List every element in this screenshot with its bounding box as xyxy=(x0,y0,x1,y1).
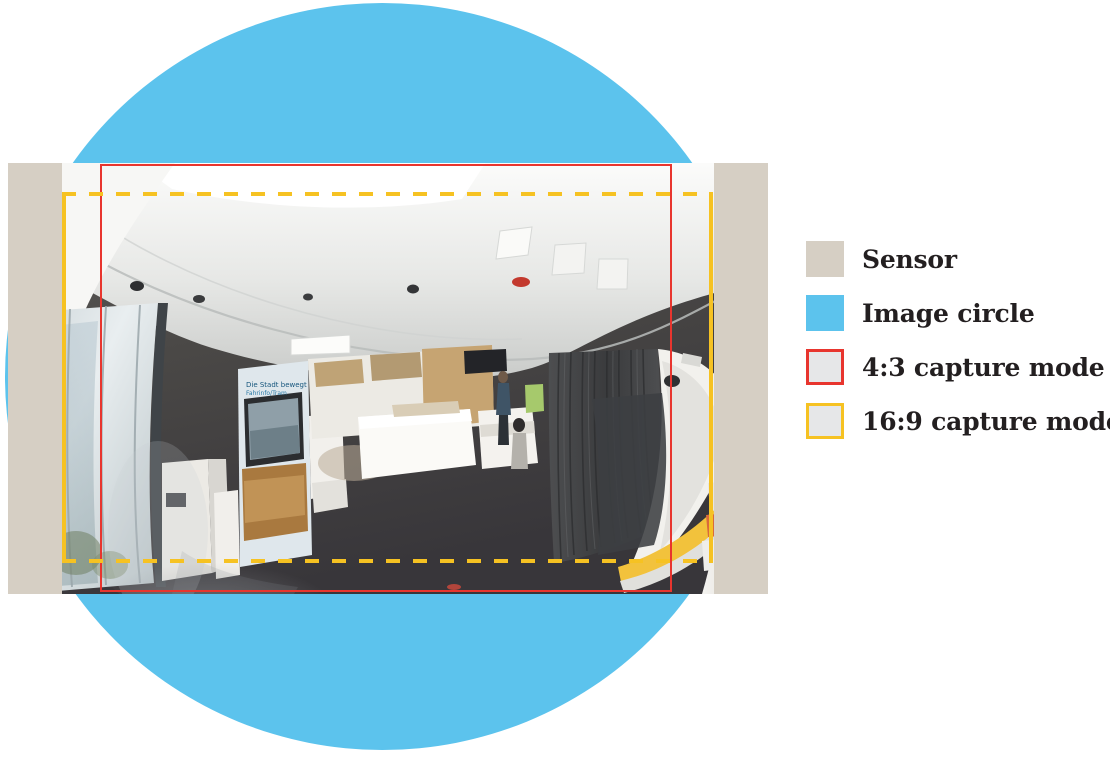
legend-row-capture-16-9: 16:9 capture mode xyxy=(806,394,1106,448)
capture-16-9-bottom-edge xyxy=(62,559,713,563)
legend-swatch-capture-4-3 xyxy=(806,349,844,385)
capture-16-9-top-edge xyxy=(62,192,713,196)
legend-swatch-sensor xyxy=(806,241,844,277)
legend-label-capture-4-3: 4:3 capture mode xyxy=(862,353,1104,382)
legend-label-sensor: Sensor xyxy=(862,245,957,274)
diagram-canvas: Die Stadt bewegt Fahrinfo/Tram xyxy=(0,0,1110,759)
legend: Sensor Image circle 4:3 capture mode 16:… xyxy=(806,232,1106,448)
legend-row-capture-4-3: 4:3 capture mode xyxy=(806,340,1106,394)
legend-swatch-image-circle xyxy=(806,295,844,331)
legend-row-sensor: Sensor xyxy=(806,232,1106,286)
legend-swatch-capture-16-9 xyxy=(806,403,844,439)
capture-mode-16-9-frame xyxy=(62,192,713,563)
legend-row-image-circle: Image circle xyxy=(806,286,1106,340)
legend-label-image-circle: Image circle xyxy=(862,299,1035,328)
legend-label-capture-16-9: 16:9 capture mode xyxy=(862,407,1110,436)
capture-16-9-left-edge xyxy=(62,192,66,563)
capture-16-9-right-edge xyxy=(709,192,713,563)
